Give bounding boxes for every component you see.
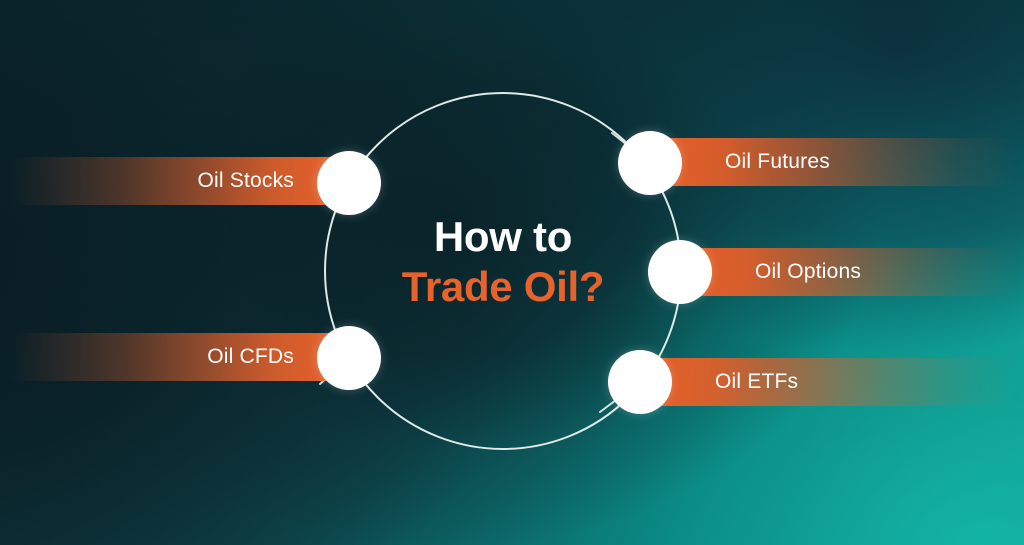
- infographic-canvas: Oil Stocks Oil CFDs Oil Futures Oil Opti…: [0, 0, 1024, 545]
- center-title: How to Trade Oil?: [353, 212, 653, 311]
- branch-bar-oil-stocks[interactable]: Oil Stocks: [10, 157, 340, 205]
- node-oil-options[interactable]: [648, 240, 712, 304]
- branch-bar-oil-cfds[interactable]: Oil CFDs: [10, 333, 340, 381]
- title-line-primary: How to: [353, 212, 653, 262]
- branch-label-oil-options: Oil Options: [689, 260, 861, 284]
- branch-bar-oil-options[interactable]: Oil Options: [689, 248, 1019, 296]
- node-oil-stocks[interactable]: [317, 151, 381, 215]
- node-oil-etfs[interactable]: [608, 350, 672, 414]
- branch-bar-oil-etfs[interactable]: Oil ETFs: [649, 358, 1014, 406]
- branch-bar-oil-futures[interactable]: Oil Futures: [659, 138, 1014, 186]
- title-line-accent: Trade Oil?: [353, 262, 653, 312]
- node-oil-futures[interactable]: [618, 131, 682, 195]
- branch-label-oil-futures: Oil Futures: [659, 150, 830, 174]
- node-oil-cfds[interactable]: [317, 326, 381, 390]
